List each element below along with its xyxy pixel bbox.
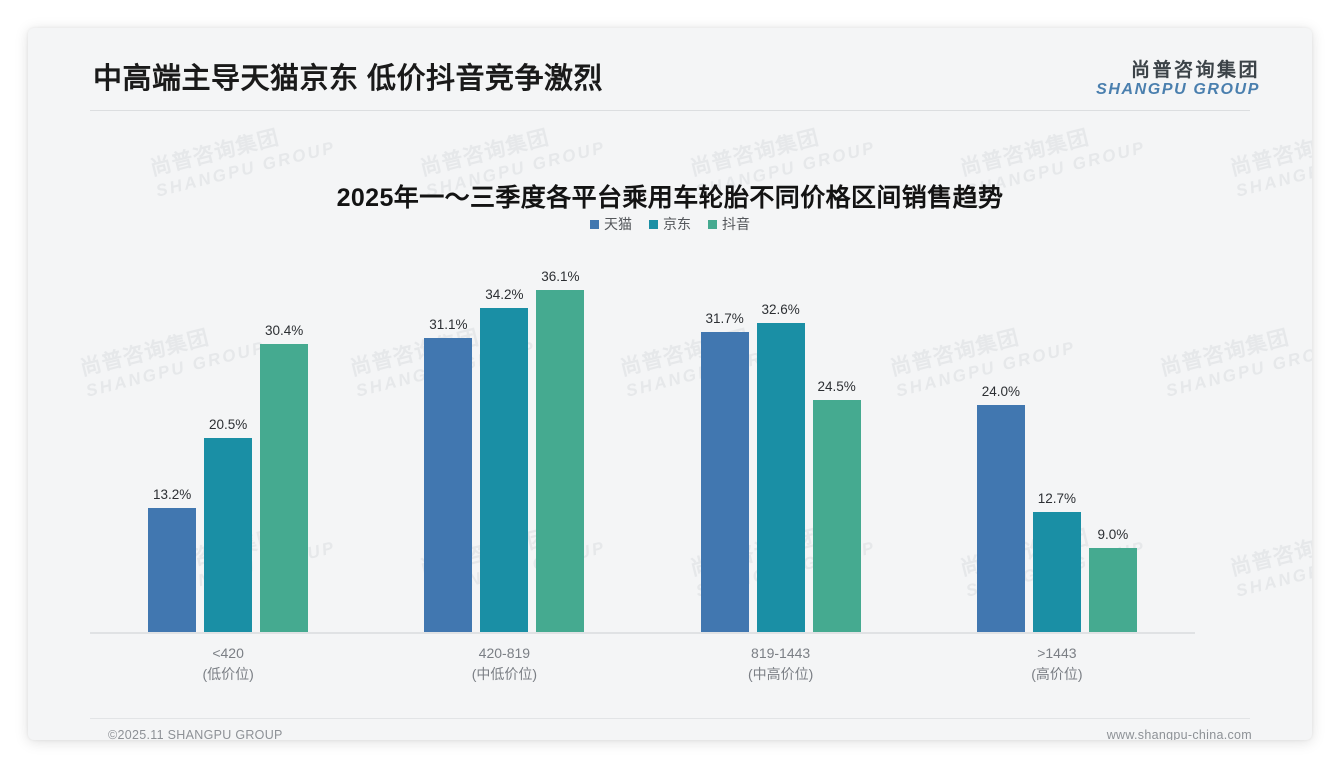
footer-copyright: ©2025.11 SHANGPU GROUP [108,728,283,740]
x-axis-label-tier: (中高价位) [697,664,865,685]
chart-plot-area: 13.2%20.5%30.4%31.1%34.2%36.1%31.7%32.6%… [90,253,1195,633]
bar-天猫-<420[interactable]: 13.2% [148,508,196,633]
bar-value-label: 13.2% [153,487,191,502]
x-axis-label-tier: (高价位) [973,664,1141,685]
legend-swatch-icon [590,220,599,229]
bar-slot: 34.2% [480,253,528,633]
x-axis-label-range: 819-1443 [751,645,810,661]
legend-swatch-icon [708,220,717,229]
bar-slot: 24.5% [813,253,861,633]
slide-header: 中高端主导天猫京东 低价抖音竞争激烈 尚普咨询集团 SHANGPU GROUP [28,28,1312,110]
bar-slot: 31.7% [701,253,749,633]
legend-item-京东[interactable]: 京东 [649,214,691,234]
legend-label: 京东 [663,214,691,234]
watermark-cn: 尚普咨询集团 [1228,513,1312,582]
x-axis-label-tier: (中低价位) [420,664,588,685]
watermark-en: SHANGPU GROUP [1234,537,1312,601]
bar-value-label: 20.5% [209,417,247,432]
bar-京东->1443[interactable]: 12.7% [1033,512,1081,633]
brand-logo-en: SHANGPU GROUP [1096,81,1260,99]
watermark-cn: 尚普咨询集团 [958,113,1143,182]
legend-item-抖音[interactable]: 抖音 [708,214,750,234]
x-axis-label-2: 420-819(中低价位) [420,643,588,685]
bar-slot: 9.0% [1089,253,1137,633]
chart-legend: 天猫京东抖音 [28,214,1312,234]
bar-slot: 13.2% [148,253,196,633]
bar-group: 13.2%20.5%30.4% [144,253,312,633]
bar-slot: 32.6% [757,253,805,633]
bar-抖音->1443[interactable]: 9.0% [1089,548,1137,634]
bar-京东-819-1443[interactable]: 32.6% [757,323,805,633]
bar-group: 24.0%12.7%9.0% [973,253,1141,633]
bar-value-label: 30.4% [265,323,303,338]
bar-value-label: 34.2% [485,287,523,302]
x-axis-label-4: >1443(高价位) [973,643,1141,685]
bar-天猫->1443[interactable]: 24.0% [977,405,1025,633]
watermark-cn: 尚普咨询集团 [688,113,873,182]
bar-value-label: 32.6% [761,302,799,317]
chart-baseline-axis [90,632,1195,634]
bar-抖音-420-819[interactable]: 36.1% [536,290,584,633]
x-axis-label-tier: (低价位) [144,664,312,685]
bar-slot: 12.7% [1033,253,1081,633]
legend-label: 天猫 [604,214,632,234]
x-axis-label-range: 420-819 [479,645,530,661]
watermark-cn: 尚普咨询集团 [148,113,333,182]
bar-抖音-819-1443[interactable]: 24.5% [813,400,861,633]
bar-slot: 31.1% [424,253,472,633]
x-axis-label-1: <420(低价位) [144,643,312,685]
bar-value-label: 24.5% [817,379,855,394]
legend-label: 抖音 [722,214,750,234]
bar-slot: 20.5% [204,253,252,633]
header-divider [90,110,1250,111]
brand-logo-cn: 尚普咨询集团 [1096,60,1260,81]
bar-京东-420-819[interactable]: 34.2% [480,308,528,633]
watermark-cn: 尚普咨询集团 [1228,113,1312,182]
x-axis-label-3: 819-1443(中高价位) [697,643,865,685]
brand-logo: 尚普咨询集团 SHANGPU GROUP [1096,60,1260,99]
bar-group: 31.7%32.6%24.5% [697,253,865,633]
bar-value-label: 12.7% [1038,491,1076,506]
bar-天猫-420-819[interactable]: 31.1% [424,338,472,633]
legend-item-天猫[interactable]: 天猫 [590,214,632,234]
slide-canvas: 尚普咨询集团SHANGPU GROUP尚普咨询集团SHANGPU GROUP尚普… [28,28,1312,740]
bar-value-label: 9.0% [1097,527,1128,542]
watermark-text: 尚普咨询集团SHANGPU GROUP [1228,513,1312,601]
legend-swatch-icon [649,220,658,229]
footer-divider [90,718,1250,719]
bar-value-label: 36.1% [541,269,579,284]
bar-slot: 30.4% [260,253,308,633]
x-axis-label-range: <420 [212,645,244,661]
bar-value-label: 31.7% [705,311,743,326]
footer-website: www.shangpu-china.com [1107,728,1252,740]
chart-title: 2025年一～三季度各平台乘用车轮胎不同价格区间销售趋势 [28,178,1312,214]
bar-京东-<420[interactable]: 20.5% [204,438,252,633]
bar-group: 31.1%34.2%36.1% [420,253,588,633]
watermark-cn: 尚普咨询集团 [418,113,603,182]
bar-value-label: 31.1% [429,317,467,332]
bar-slot: 36.1% [536,253,584,633]
bar-天猫-819-1443[interactable]: 31.7% [701,332,749,633]
page-title: 中高端主导天猫京东 低价抖音竞争激烈 [93,55,603,97]
bar-抖音-<420[interactable]: 30.4% [260,344,308,633]
x-axis-label-range: >1443 [1037,645,1076,661]
bar-slot: 24.0% [977,253,1025,633]
bar-value-label: 24.0% [982,384,1020,399]
